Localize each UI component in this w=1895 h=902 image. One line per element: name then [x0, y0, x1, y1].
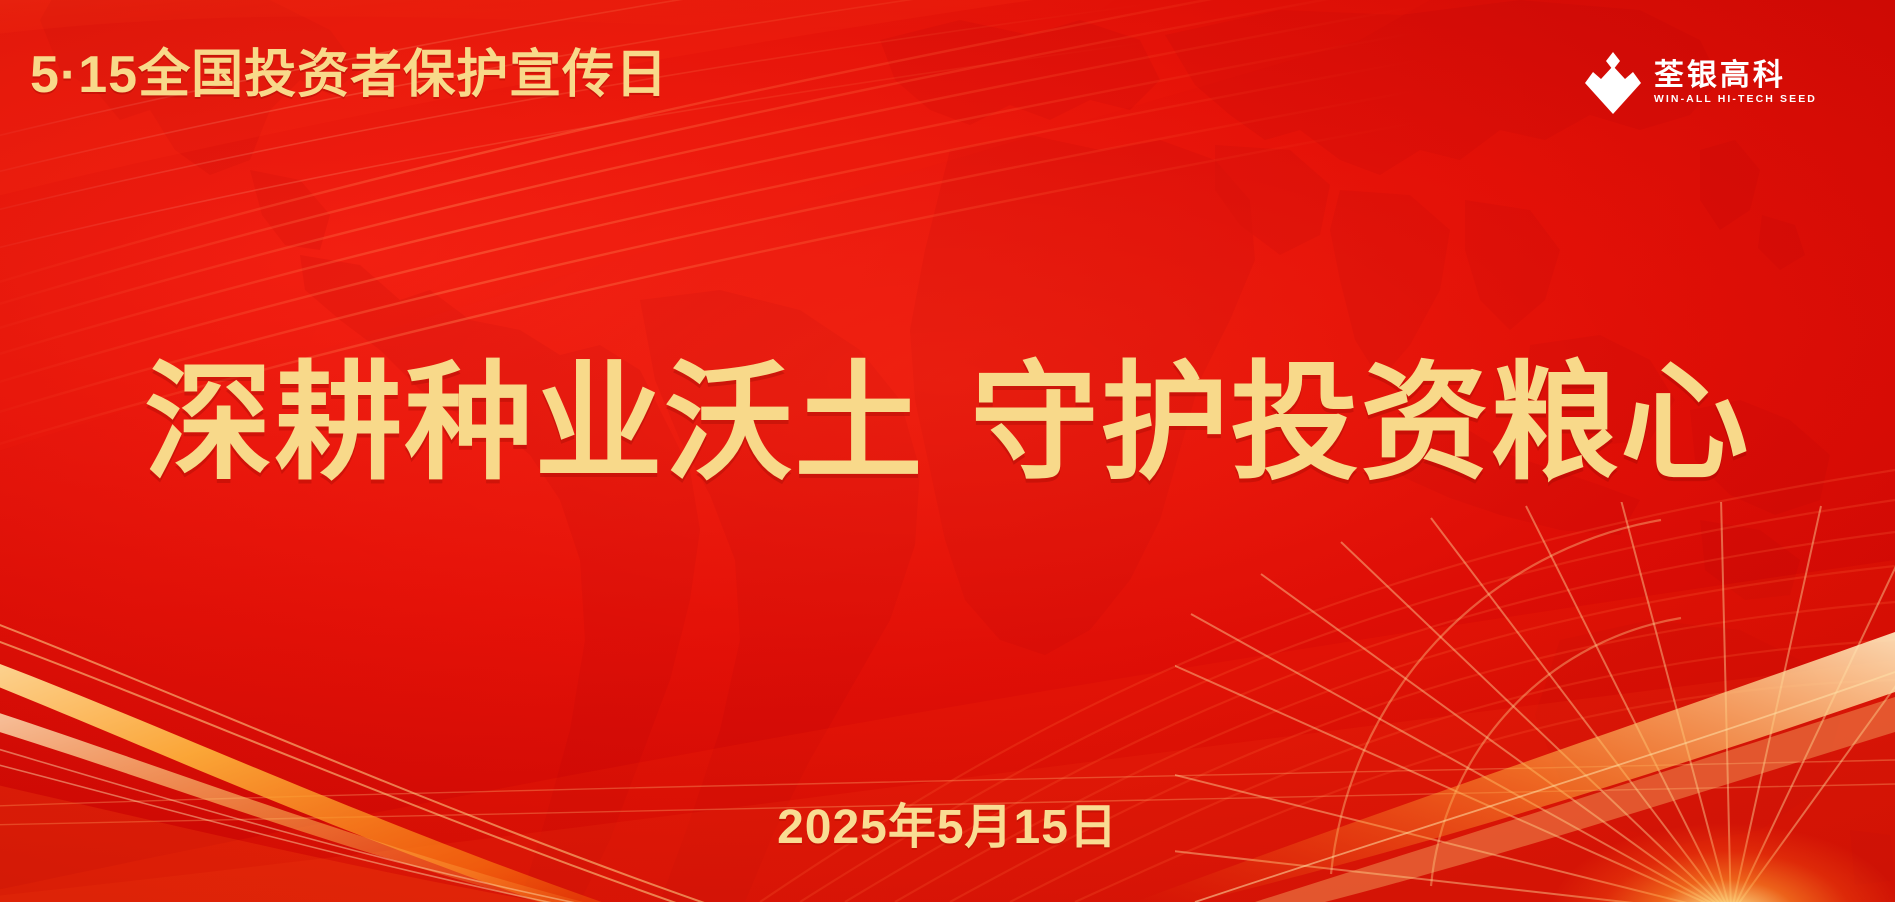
headline-phrase-left: 深耕种业沃土	[144, 352, 924, 495]
page-title-kicker: 5·15全国投资者保护宣传日	[30, 48, 668, 103]
chevron-diamond-icon	[1585, 52, 1641, 114]
main-headline: 深耕种业沃土守护投资粮心	[0, 352, 1895, 495]
logo-text-block: 荃银高科 WIN-ALL HI-TECH SEED	[1654, 61, 1817, 105]
banner-canvas: 5·15全国投资者保护宣传日 荃银高科 WIN-ALL HI-TECH SEED…	[0, 0, 1895, 902]
company-logo: 荃银高科 WIN-ALL HI-TECH SEED	[1585, 52, 1817, 114]
headline-phrase-right: 守护投资粮心	[971, 352, 1751, 495]
logo-name-en: WIN-ALL HI-TECH SEED	[1654, 94, 1817, 105]
logo-name-cn: 荃银高科	[1654, 61, 1786, 91]
event-date: 2025年5月15日	[0, 787, 1895, 857]
